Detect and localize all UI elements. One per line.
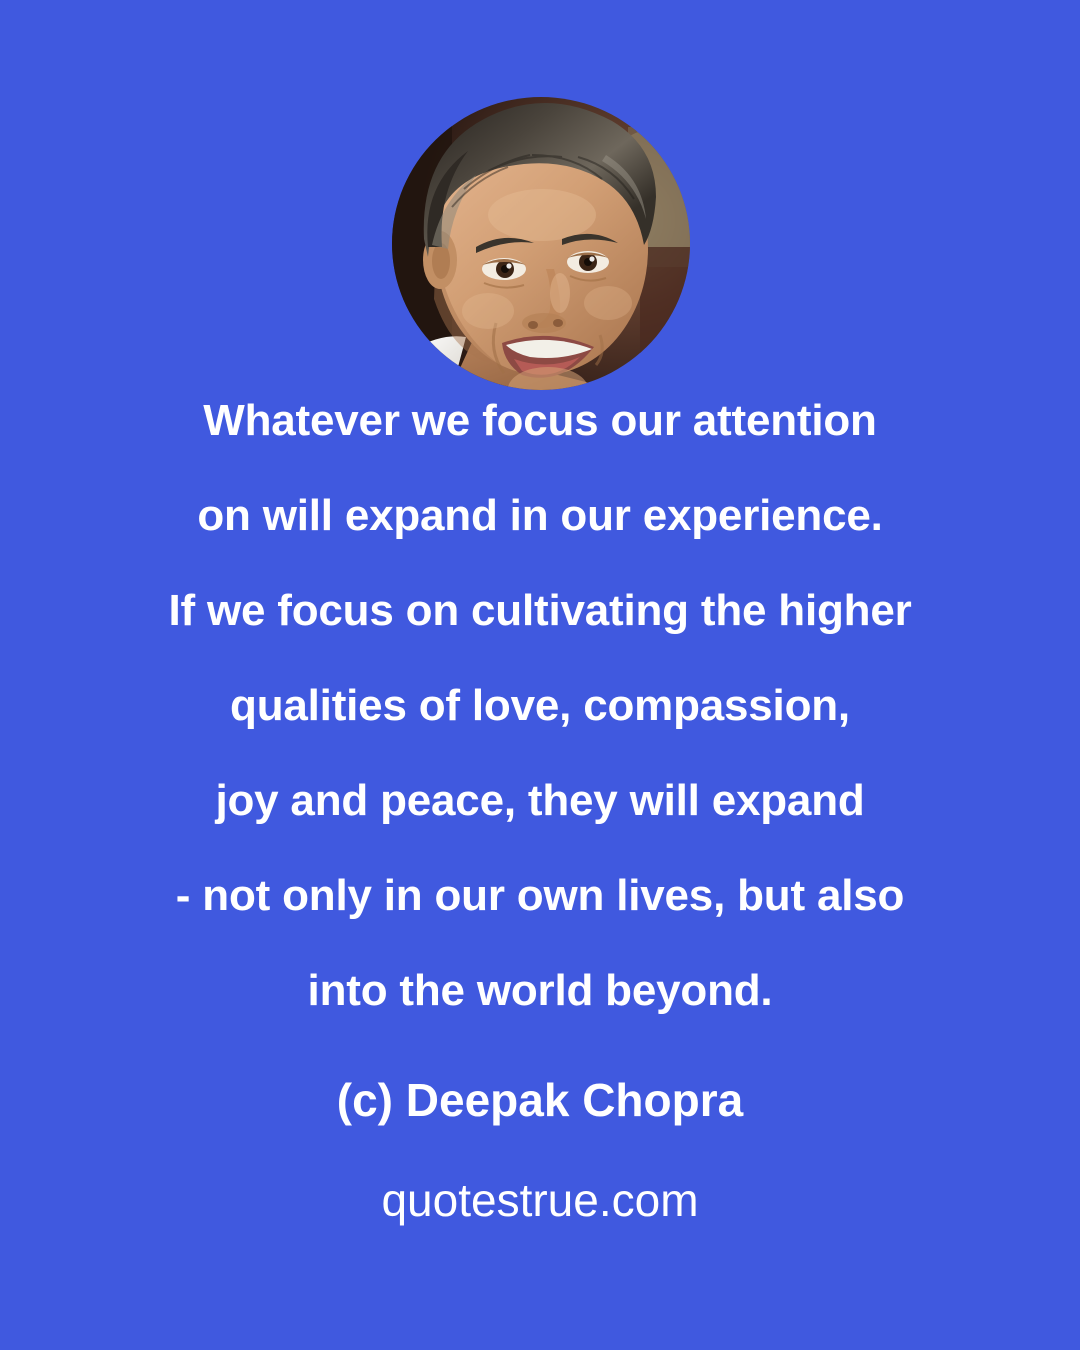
author-portrait xyxy=(392,97,690,390)
quote-line: joy and peace, they will expand xyxy=(0,753,1080,848)
quote-text: Whatever we focus our attention on will … xyxy=(0,373,1080,1038)
site-watermark: quotestrue.com xyxy=(0,1172,1080,1228)
watermark-label: quotestrue.com xyxy=(381,1174,698,1226)
quote-line: Whatever we focus our attention xyxy=(0,373,1080,468)
quote-line: If we focus on cultivating the higher xyxy=(0,563,1080,658)
author-photo-icon xyxy=(392,97,690,390)
quote-card: Whatever we focus our attention on will … xyxy=(0,0,1080,1350)
quote-line: - not only in our own lives, but also xyxy=(0,848,1080,943)
attribution-label: (c) Deepak Chopra xyxy=(337,1074,743,1126)
quote-line: on will expand in our experience. xyxy=(0,468,1080,563)
quote-attribution: (c) Deepak Chopra xyxy=(0,1072,1080,1128)
quote-line: qualities of love, compassion, xyxy=(0,658,1080,753)
quote-line: into the world beyond. xyxy=(0,943,1080,1038)
